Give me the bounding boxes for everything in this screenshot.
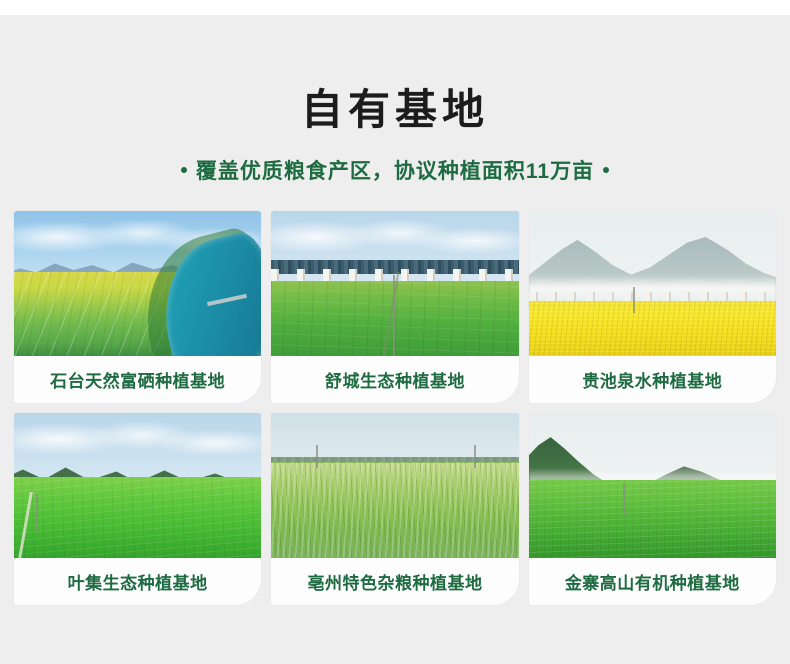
page-title: 自有基地 — [0, 87, 790, 133]
utility-pole — [36, 494, 38, 532]
base-caption: 舒城生态种植基地 — [271, 356, 518, 403]
base-card[interactable]: 叶集生态种植基地 — [14, 413, 261, 605]
base-card[interactable]: 金寨高山有机种植基地 — [529, 413, 776, 605]
base-caption: 贵池泉水种植基地 — [529, 356, 776, 403]
utility-pole — [474, 445, 476, 468]
base-caption: 金寨高山有机种植基地 — [529, 558, 776, 605]
base-card[interactable]: 舒城生态种植基地 — [271, 211, 518, 403]
paddy-field-layer — [14, 477, 261, 558]
haze-layer — [271, 532, 518, 558]
utility-pole — [623, 483, 625, 515]
base-card[interactable]: 亳州特色杂粮种植基地 — [271, 413, 518, 605]
base-photo-flat-green-farmland — [271, 211, 518, 356]
bullet-right-icon — [603, 167, 609, 173]
base-photo-terraced-rapeseed-river — [14, 211, 261, 356]
cloud-layer — [14, 422, 261, 460]
base-card[interactable]: 贵池泉水种植基地 — [529, 211, 776, 403]
base-photo-misty-mountains-rapeseed — [529, 211, 776, 356]
base-photo-village-paddy-hills — [14, 413, 261, 558]
base-caption: 石台天然富硒种植基地 — [14, 356, 261, 403]
base-photo-cornfield-rows — [271, 413, 518, 558]
base-caption: 亳州特色杂粮种植基地 — [271, 558, 518, 605]
cloud-layer — [271, 220, 518, 258]
base-card-grid: 石台天然富硒种植基地 舒城生态种植基地 — [0, 211, 790, 605]
base-photo-mountain-paddy — [529, 413, 776, 558]
top-white-strip — [0, 0, 790, 15]
page-subtitle-text: 覆盖优质粮食产区，协议种植面积11万亩 — [196, 155, 594, 185]
page-root: 自有基地 覆盖优质粮食产区，协议种植面积11万亩 — [0, 0, 790, 664]
bullet-left-icon — [181, 167, 187, 173]
utility-pole — [316, 445, 318, 468]
paddy-field-layer — [529, 480, 776, 558]
base-caption: 叶集生态种植基地 — [14, 558, 261, 605]
base-card[interactable]: 石台天然富硒种植基地 — [14, 211, 261, 403]
rapeseed-field-layer — [529, 301, 776, 356]
utility-pole — [633, 287, 635, 313]
page-subtitle: 覆盖优质粮食产区，协议种植面积11万亩 — [0, 155, 790, 185]
page-header: 自有基地 覆盖优质粮食产区，协议种植面积11万亩 — [0, 15, 790, 185]
